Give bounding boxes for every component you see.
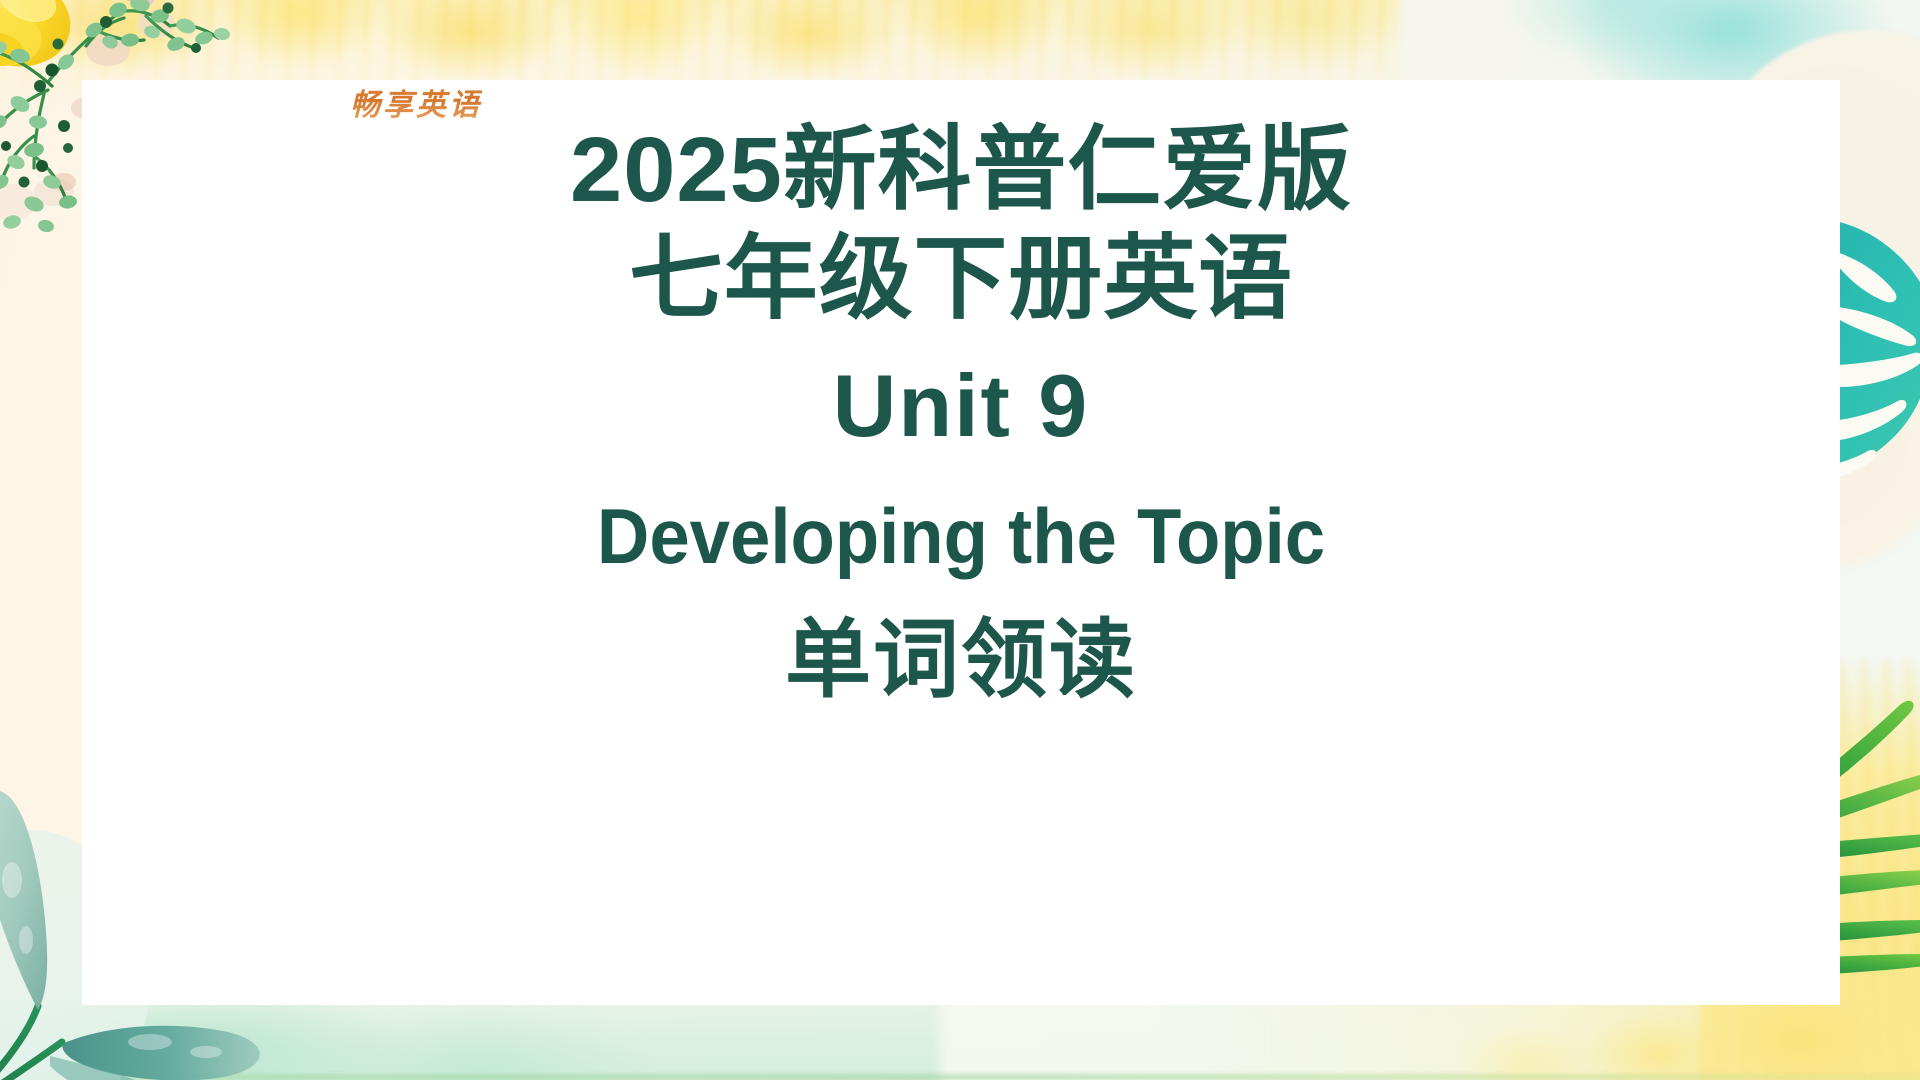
page-title-grade-subject: 七年级下册英语 — [64, 225, 1857, 334]
page-subtitle-english: Developing the Topic — [144, 486, 1779, 587]
title-card: 畅享英语 2025新科普仁爱版 七年级下册英语 Unit 9 Developin… — [82, 80, 1840, 1005]
page-subtitle-chinese: 单词领读 — [82, 605, 1840, 717]
bottom-green-edge — [0, 1074, 1920, 1080]
page-title-unit: Unit 9 — [82, 347, 1840, 466]
title-block: 2025新科普仁爱版 七年级下册英语 Unit 9 Developing the… — [82, 116, 1840, 717]
page-title-edition: 2025新科普仁爱版 — [64, 116, 1857, 225]
presentation-slide: 畅享英语 2025新科普仁爱版 七年级下册英语 Unit 9 Developin… — [0, 0, 1920, 1080]
